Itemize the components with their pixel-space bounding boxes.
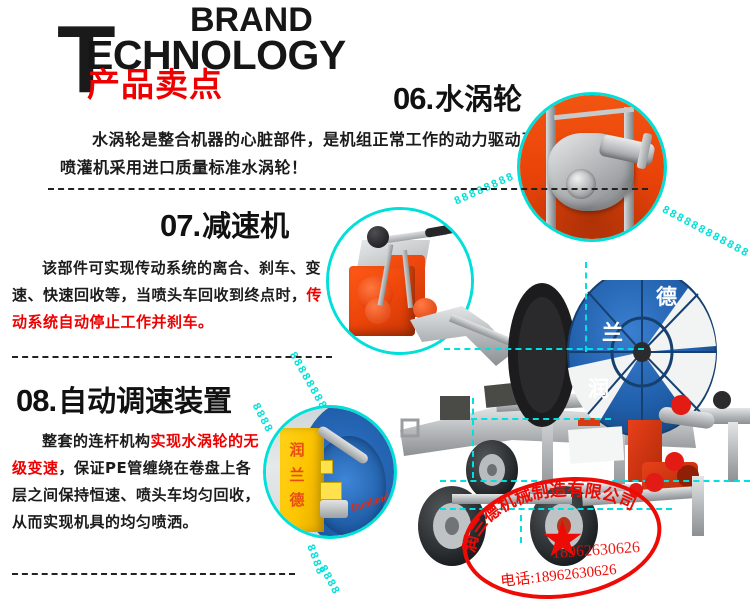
regulator-clamp (320, 500, 348, 518)
section-08-body: 整套的连杆机构实现水涡轮的无级变速，保证PE管缠绕在卷盘上各层之间保持恒速、喷头… (12, 428, 264, 536)
product-feature-poster: T BRAND ECHNOLOGY 产品卖点 06.水涡轮 水涡轮是整合机器的心… (0, 0, 750, 606)
section-08-photo-bubble: 润兰德 Runlande (263, 405, 397, 539)
divider-2 (12, 356, 332, 358)
section-07-title: 减速机 (202, 209, 289, 243)
divider-3 (12, 573, 295, 575)
svg-text:德: 德 (656, 285, 677, 309)
measure-line-vertical-1 (585, 262, 587, 352)
water-turbine-photo (520, 95, 664, 239)
speed-regulator-photo: 润兰德 Runlande (266, 408, 394, 536)
gearbox-small-wheel (367, 226, 389, 248)
section-08-body-text-plain-1: 整套的连杆机构 (42, 432, 151, 450)
decor-eights-3: 88888888 (287, 350, 330, 412)
section-06-number: 06. (393, 81, 433, 116)
header-chinese-slogan: 产品卖点 (87, 68, 223, 102)
divider-1 (48, 188, 648, 190)
section-06-title: 水涡轮 (435, 82, 522, 116)
section-07-heading: 07.减速机 (160, 203, 289, 245)
turbine-arm (554, 107, 634, 120)
section-06-heading: 06.水涡轮 (393, 76, 522, 118)
regulator-info-sticker (320, 482, 342, 500)
measure-line-horizontal-1 (444, 348, 644, 350)
section-07-number: 07. (160, 208, 200, 243)
company-watermark-stamp: 润兰德机械制造有限公司 ★ 18962630626 电话:18962630626 (462, 478, 662, 606)
decor-eights-2: 888888888888 (660, 204, 750, 260)
section-06-photo-bubble (517, 92, 667, 242)
turbine-hub (566, 169, 596, 199)
measure-line-horizontal-4 (471, 418, 611, 420)
regulator-brand-label: 润兰德 (286, 438, 308, 513)
section-07-body: 该部件可实现传动系统的离合、刹车、变速、快速回收等，当喷头车回收到终点时，传动系… (12, 255, 334, 336)
section-08-number: 08. (16, 383, 56, 418)
section-08-heading: 08.自动调速装置 (16, 378, 232, 420)
callout-dot-2 (665, 452, 684, 471)
gearbox-handle-grip (424, 223, 459, 238)
section-07-body-text-plain: 该部件可实现传动系统的离合、刹车、变速、快速回收等，当喷头车回收到终点时， (12, 259, 321, 304)
measure-line-vertical-2 (472, 398, 474, 478)
svg-text:兰: 兰 (602, 321, 623, 345)
poster-header: T BRAND ECHNOLOGY 产品卖点 (0, 0, 430, 115)
section-08-title: 自动调速装置 (58, 384, 232, 418)
svg-text:润: 润 (588, 377, 609, 401)
callout-dot-1 (671, 395, 691, 415)
regulator-warning-sticker (320, 460, 333, 474)
decor-eights-6: 8888 (317, 563, 343, 597)
